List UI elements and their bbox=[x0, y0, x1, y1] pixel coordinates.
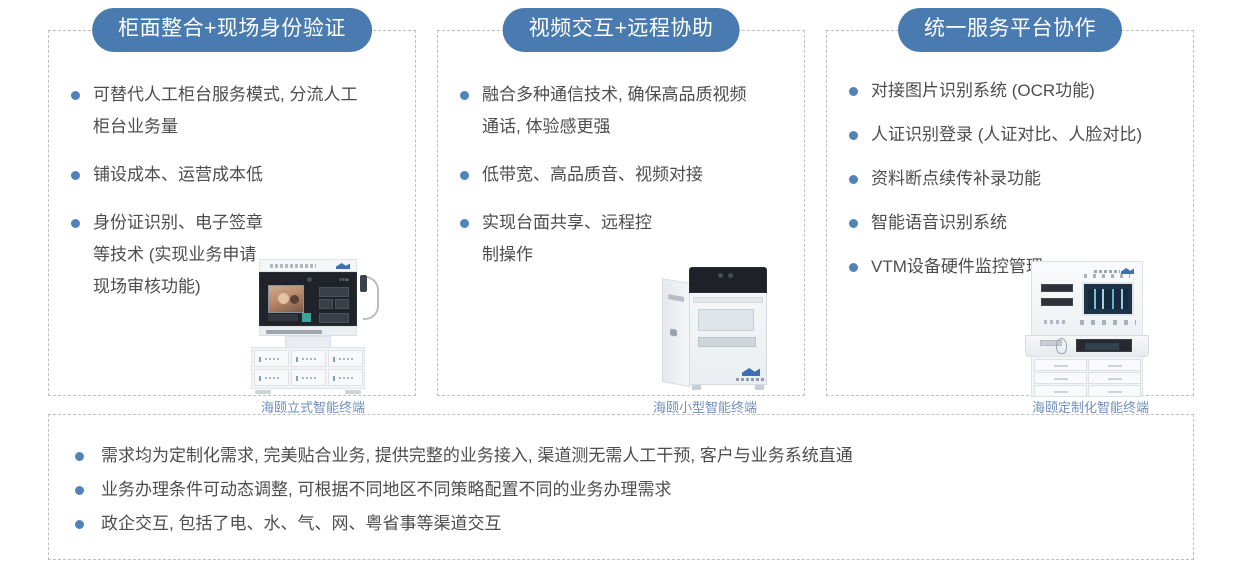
face-icon bbox=[278, 293, 289, 304]
cabinet-drawer bbox=[1088, 385, 1141, 397]
bullet-dot-icon bbox=[71, 171, 80, 180]
cabinet-drawer bbox=[291, 369, 326, 386]
list-item: 实现台面共享、远程控制操作 bbox=[438, 207, 652, 271]
bullet-text: VTM设备硬件监控管理 bbox=[871, 257, 1043, 276]
feature-panel-3: 统一服务平台协作 对接图片识别系统 (OCR功能) 人证识别登录 (人证对比、人… bbox=[826, 30, 1194, 396]
kiosk-button bbox=[319, 313, 349, 323]
bullet-dot-icon bbox=[75, 452, 84, 461]
list-item: 资料断点续传补录功能 bbox=[827, 163, 1111, 195]
kiosk-tray bbox=[259, 326, 357, 336]
bullet-text: 业务办理条件可动态调整, 可根据不同地区不同策略配置不同的业务办理需求 bbox=[101, 480, 671, 499]
list-item: 身份证识别、电子签章等技术 (实现业务申请现场审核功能) bbox=[49, 207, 273, 303]
feature-panel-1: 柜面整合+现场身份验证 可替代人工柜台服务模式, 分流人工柜台业务量 铺设成本、… bbox=[48, 30, 416, 396]
bullet-dot-icon bbox=[71, 219, 80, 228]
kiosk-screen-label: VTM bbox=[339, 277, 349, 282]
kiosk-top-banner bbox=[259, 259, 357, 272]
face-icon bbox=[290, 295, 299, 304]
counter-top-indicators bbox=[1084, 274, 1130, 278]
panel-2-bullet-list: 融合多种通信技术, 确保高品质视频通话, 体验感更强 低带宽、高品质音、视频对接… bbox=[438, 79, 804, 271]
signature-pad bbox=[1076, 339, 1132, 352]
list-item: 人证识别登录 (人证对比、人脸对比) bbox=[827, 119, 1191, 151]
bullet-dot-icon bbox=[75, 520, 84, 529]
terminal-screen bbox=[698, 309, 754, 331]
counter-screen-content bbox=[1088, 289, 1128, 309]
bullet-dot-icon bbox=[460, 171, 469, 180]
cabinet-drawer bbox=[254, 350, 289, 367]
panel-1-body: 可替代人工柜台服务模式, 分流人工柜台业务量 铺设成本、运营成本低 身份证识别、… bbox=[49, 79, 415, 395]
kiosk-screen-panel: VTM bbox=[259, 272, 357, 326]
bullet-text: 需求均为定制化需求, 完美贴合业务, 提供完整的业务接入, 渠道测无需人工干预,… bbox=[101, 446, 853, 465]
cabinet-drawer bbox=[1034, 359, 1087, 371]
list-item: 可替代人工柜台服务模式, 分流人工柜台业务量 bbox=[49, 79, 363, 143]
list-item: 融合多种通信技术, 确保高品质视频通话, 体验感更强 bbox=[438, 79, 762, 143]
counter-bottom-indicators bbox=[1080, 320, 1136, 325]
terminal-dispense-slot bbox=[698, 337, 756, 347]
kiosk-button bbox=[335, 299, 349, 309]
terminal-feet bbox=[692, 385, 764, 390]
terminal-top-sensor bbox=[718, 273, 723, 278]
bullet-text: 可替代人工柜台服务模式, 分流人工柜台业务量 bbox=[93, 85, 357, 136]
cabinet-drawer bbox=[254, 369, 289, 386]
kiosk-card-strip bbox=[268, 314, 298, 321]
bullet-dot-icon bbox=[460, 91, 469, 100]
panel-2-header: 视频交互+远程协助 bbox=[503, 8, 740, 52]
counter-card-slot bbox=[1041, 284, 1073, 292]
video-call-thumbnail bbox=[268, 285, 304, 313]
kiosk-button bbox=[319, 299, 333, 309]
summary-panel: 需求均为定制化需求, 完美贴合业务, 提供完整的业务接入, 渠道测无需人工干预,… bbox=[48, 414, 1194, 560]
bullet-dot-icon bbox=[75, 486, 84, 495]
brand-logo-text bbox=[1094, 270, 1120, 273]
panel-2-body: 融合多种通信技术, 确保高品质视频通话, 体验感更强 低带宽、高品质音、视频对接… bbox=[438, 79, 804, 395]
bullet-text: 政企交互, 包括了电、水、气、网、粤省事等渠道交互 bbox=[101, 514, 501, 533]
brand-logo-icon bbox=[336, 263, 350, 269]
cabinet-drawer bbox=[328, 369, 363, 386]
brand-logo-icon bbox=[742, 368, 760, 376]
list-item: 需求均为定制化需求, 完美贴合业务, 提供完整的业务接入, 渠道测无需人工干预,… bbox=[49, 439, 1193, 473]
list-item: VTM设备硬件监控管理 bbox=[827, 251, 1046, 283]
bullet-text: 人证识别登录 (人证对比、人脸对比) bbox=[871, 125, 1142, 144]
cabinet-drawer bbox=[1034, 372, 1087, 384]
list-item: 政企交互, 包括了电、水、气、网、粤省事等渠道交互 bbox=[49, 507, 1193, 541]
bullet-dot-icon bbox=[849, 263, 858, 272]
counter-desk-surface bbox=[1025, 335, 1149, 357]
terminal-top-sensor bbox=[728, 273, 733, 278]
terminal-top-bay bbox=[689, 267, 767, 293]
bullet-dot-icon bbox=[849, 87, 858, 96]
stylus-pen-icon bbox=[1056, 338, 1067, 354]
kiosk-tray-slot bbox=[266, 330, 322, 334]
bullet-text: 对接图片识别系统 (OCR功能) bbox=[871, 81, 1095, 100]
device-image-standing-kiosk: VTM bbox=[245, 259, 375, 394]
terminal-side-panel bbox=[662, 278, 690, 387]
counter-cabinet bbox=[1031, 356, 1143, 397]
counter-screen bbox=[1082, 282, 1134, 316]
feature-panel-2: 视频交互+远程协助 融合多种通信技术, 确保高品质视频通话, 体验感更强 低带宽… bbox=[437, 30, 805, 396]
counter-left-labels bbox=[1044, 320, 1068, 324]
panel-3-header: 统一服务平台协作 bbox=[898, 8, 1122, 52]
panel-1-header: 柜面整合+现场身份验证 bbox=[92, 8, 372, 52]
cabinet-drawer bbox=[1034, 385, 1087, 397]
list-item: 对接图片识别系统 (OCR功能) bbox=[827, 75, 1171, 107]
list-item: 智能语音识别系统 bbox=[827, 207, 1071, 239]
brand-logo-text bbox=[736, 378, 766, 381]
feature-panels-row: 柜面整合+现场身份验证 可替代人工柜台服务模式, 分流人工柜台业务量 铺设成本、… bbox=[48, 30, 1194, 396]
bullet-dot-icon bbox=[460, 219, 469, 228]
kiosk-banner-text bbox=[270, 264, 316, 268]
terminal-side-button bbox=[670, 328, 677, 336]
panel-3-bullet-list: 对接图片识别系统 (OCR功能) 人证识别登录 (人证对比、人脸对比) 资料断点… bbox=[827, 75, 1193, 283]
bullet-text: 智能语音识别系统 bbox=[871, 213, 1007, 232]
list-item: 业务办理条件可动态调整, 可根据不同地区不同策略配置不同的业务办理需求 bbox=[49, 473, 1193, 507]
bullet-dot-icon bbox=[849, 175, 858, 184]
bullet-text: 实现台面共享、远程控制操作 bbox=[482, 213, 652, 264]
list-item: 铺设成本、运营成本低 bbox=[49, 159, 363, 191]
terminal-side-slot bbox=[668, 294, 684, 302]
counter-card-slot bbox=[1041, 298, 1073, 306]
panel-3-body: 对接图片识别系统 (OCR功能) 人证识别登录 (人证对比、人脸对比) 资料断点… bbox=[827, 79, 1193, 395]
bullet-text: 融合多种通信技术, 确保高品质视频通话, 体验感更强 bbox=[482, 85, 746, 136]
terminal-upper-trim bbox=[693, 297, 763, 303]
camera-icon bbox=[307, 277, 312, 282]
kiosk-button bbox=[319, 287, 349, 297]
cabinet-drawer bbox=[328, 350, 363, 367]
cabinet-drawer bbox=[1088, 372, 1141, 384]
kiosk-status-light bbox=[302, 313, 311, 322]
kiosk-cabinet bbox=[251, 347, 365, 389]
device-image-counter-terminal bbox=[1019, 261, 1155, 397]
summary-bullet-list: 需求均为定制化需求, 完美贴合业务, 提供完整的业务接入, 渠道测无需人工干预,… bbox=[49, 415, 1193, 541]
slide-root: 柜面整合+现场身份验证 可替代人工柜台服务模式, 分流人工柜台业务量 铺设成本、… bbox=[0, 0, 1241, 586]
list-item: 低带宽、高品质音、视频对接 bbox=[438, 159, 762, 191]
device-image-compact-terminal bbox=[662, 265, 774, 395]
kiosk-feet bbox=[255, 389, 361, 394]
handset-grip bbox=[360, 275, 367, 292]
bullet-text: 身份证识别、电子签章等技术 (实现业务申请现场审核功能) bbox=[93, 213, 263, 296]
bullet-dot-icon bbox=[71, 91, 80, 100]
counter-upper-unit bbox=[1031, 261, 1143, 337]
cabinet-drawer bbox=[1088, 359, 1141, 371]
bullet-text: 铺设成本、运营成本低 bbox=[93, 165, 263, 184]
bullet-text: 资料断点续传补录功能 bbox=[871, 169, 1041, 188]
cabinet-drawer bbox=[291, 350, 326, 367]
bullet-text: 低带宽、高品质音、视频对接 bbox=[482, 165, 703, 184]
bullet-dot-icon bbox=[849, 219, 858, 228]
bullet-dot-icon bbox=[849, 131, 858, 140]
signature-pad-screen bbox=[1085, 343, 1119, 350]
